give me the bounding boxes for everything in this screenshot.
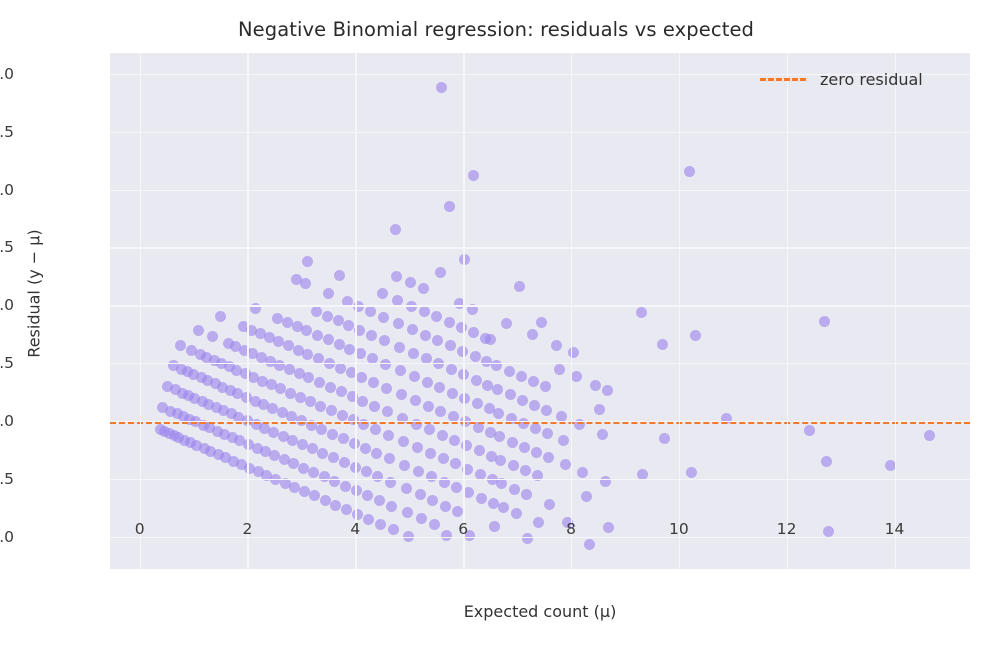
scatter-point	[558, 435, 569, 446]
scatter-point	[463, 487, 474, 498]
scatter-point	[821, 456, 832, 467]
scatter-point	[476, 493, 487, 504]
scatter-point	[527, 329, 538, 340]
scatter-point	[425, 448, 436, 459]
scatter-point	[326, 405, 337, 416]
scatter-point	[300, 278, 311, 289]
scatter-point	[560, 459, 571, 470]
scatter-point	[501, 318, 512, 329]
scatter-point	[446, 364, 457, 375]
scatter-point	[451, 482, 462, 493]
scatter-point	[450, 458, 461, 469]
gridline-vertical	[787, 53, 788, 569]
scatter-point	[344, 344, 355, 355]
scatter-point	[435, 406, 446, 417]
x-axis-label: Expected count (μ)	[110, 602, 970, 621]
scatter-point	[301, 325, 312, 336]
scatter-point	[444, 317, 455, 328]
scatter-point	[334, 270, 345, 281]
scatter-point	[468, 170, 479, 181]
scatter-point	[436, 82, 447, 93]
scatter-point	[416, 513, 427, 524]
scatter-point	[215, 311, 226, 322]
scatter-point	[370, 424, 381, 435]
scatter-point	[819, 316, 830, 327]
scatter-point	[485, 334, 496, 345]
scatter-point	[429, 519, 440, 530]
scatter-point	[456, 322, 467, 333]
scatter-point	[415, 489, 426, 500]
scatter-point	[690, 330, 701, 341]
scatter-point	[438, 453, 449, 464]
scatter-point	[408, 348, 419, 359]
scatter-point	[427, 495, 438, 506]
legend-label-zero-residual: zero residual	[820, 70, 923, 89]
scatter-point	[684, 166, 695, 177]
scatter-point	[521, 489, 532, 500]
scatter-point	[305, 396, 316, 407]
scatter-point	[390, 224, 401, 235]
scatter-point	[325, 382, 336, 393]
scatter-point	[407, 324, 418, 335]
scatter-point	[410, 395, 421, 406]
scatter-point	[320, 495, 331, 506]
scatter-point	[378, 312, 389, 323]
scatter-point	[336, 386, 347, 397]
scatter-point	[311, 306, 322, 317]
scatter-point	[435, 267, 446, 278]
plot-axes	[110, 53, 970, 569]
gridline-vertical	[679, 53, 680, 569]
scatter-point	[571, 371, 582, 382]
scatter-point	[517, 395, 528, 406]
scatter-point	[823, 526, 834, 537]
scatter-point	[540, 381, 551, 392]
scatter-point	[452, 506, 463, 517]
scatter-point	[426, 471, 437, 482]
scatter-point	[360, 443, 371, 454]
scatter-point	[314, 377, 325, 388]
scatter-point	[340, 481, 351, 492]
x-tick-label: 6	[458, 520, 468, 538]
scatter-point	[308, 467, 319, 478]
y-tick-label: 15.0	[0, 65, 14, 83]
scatter-point	[498, 502, 509, 513]
scatter-point	[395, 365, 406, 376]
scatter-point	[474, 445, 485, 456]
scatter-point	[494, 431, 505, 442]
scatter-point	[536, 317, 547, 328]
scatter-point	[207, 331, 218, 342]
scatter-point	[363, 514, 374, 525]
scatter-point	[602, 385, 613, 396]
scatter-point	[327, 429, 338, 440]
scatter-point	[323, 288, 334, 299]
scatter-point	[368, 377, 379, 388]
x-tick-label: 0	[135, 520, 145, 538]
scatter-point	[542, 428, 553, 439]
scatter-point	[377, 288, 388, 299]
scatter-point	[516, 371, 527, 382]
scatter-point	[597, 429, 608, 440]
scatter-point	[509, 484, 520, 495]
scatter-point	[413, 466, 424, 477]
gridline-horizontal	[110, 190, 970, 191]
gridline-horizontal	[110, 479, 970, 480]
scatter-point	[330, 500, 341, 511]
scatter-point	[317, 448, 328, 459]
scatter-point	[528, 376, 539, 387]
scatter-point	[657, 339, 668, 350]
gridline-horizontal	[110, 363, 970, 364]
scatter-point	[374, 495, 385, 506]
scatter-point	[419, 306, 430, 317]
scatter-point	[382, 406, 393, 417]
scatter-point	[544, 499, 555, 510]
scatter-point	[423, 401, 434, 412]
chart-figure: Negative Binomial regression: residuals …	[0, 0, 992, 656]
gridline-horizontal	[110, 537, 970, 538]
scatter-point	[434, 382, 445, 393]
gridline-vertical	[571, 53, 572, 569]
scatter-point	[422, 377, 433, 388]
scatter-point	[584, 539, 595, 550]
x-tick-label: 4	[350, 520, 360, 538]
x-tick-label: 2	[243, 520, 253, 538]
scatter-point	[444, 201, 455, 212]
scatter-point	[394, 342, 405, 353]
scatter-point	[577, 467, 588, 478]
scatter-point	[468, 327, 479, 338]
scatter-point	[551, 340, 562, 351]
scatter-point	[493, 408, 504, 419]
scatter-point	[349, 438, 360, 449]
scatter-point	[472, 398, 483, 409]
scatter-point	[352, 509, 363, 520]
scatter-point	[804, 425, 815, 436]
scatter-point	[568, 347, 579, 358]
scatter-point	[401, 483, 412, 494]
scatter-point	[366, 330, 377, 341]
scatter-point	[511, 508, 522, 519]
scatter-point	[505, 389, 516, 400]
scatter-point	[337, 410, 348, 421]
y-tick-label: 10.0	[0, 181, 14, 199]
scatter-point	[372, 471, 383, 482]
scatter-point	[495, 455, 506, 466]
scatter-point	[522, 533, 533, 544]
scatter-point	[457, 346, 468, 357]
scatter-point	[603, 522, 614, 533]
scatter-point	[388, 524, 399, 535]
scatter-point	[328, 452, 339, 463]
scatter-point	[432, 335, 443, 346]
legend-dash-swatch	[760, 78, 806, 81]
scatter-point	[519, 442, 530, 453]
scatter-point	[431, 311, 442, 322]
scatter-point	[514, 281, 525, 292]
scatter-point	[193, 325, 204, 336]
scatter-point	[362, 490, 373, 501]
scatter-point	[449, 435, 460, 446]
scatter-point	[594, 404, 605, 415]
scatter-point	[391, 271, 402, 282]
gridline-horizontal	[110, 247, 970, 248]
scatter-point	[369, 401, 380, 412]
scatter-point	[508, 460, 519, 471]
scatter-point	[319, 471, 330, 482]
scatter-point	[339, 457, 350, 468]
scatter-point	[405, 277, 416, 288]
scatter-point	[440, 501, 451, 512]
scatter-point	[543, 452, 554, 463]
scatter-point	[323, 334, 334, 345]
scatter-point	[491, 360, 502, 371]
scatter-point	[396, 389, 407, 400]
scatter-point	[530, 423, 541, 434]
scatter-point	[386, 501, 397, 512]
scatter-point	[399, 460, 410, 471]
scatter-point	[356, 372, 367, 383]
scatter-point	[686, 467, 697, 478]
scatter-point	[504, 366, 515, 377]
scatter-point	[338, 433, 349, 444]
x-tick-label: 14	[885, 520, 905, 538]
scatter-point	[531, 447, 542, 458]
scatter-point	[437, 430, 448, 441]
gridline-vertical	[463, 53, 464, 569]
scatter-point	[303, 372, 314, 383]
scatter-point	[357, 396, 368, 407]
scatter-point	[341, 504, 352, 515]
gridline-vertical	[140, 53, 141, 569]
scatter-point	[302, 349, 313, 360]
scatter-point	[398, 436, 409, 447]
scatter-point	[554, 364, 565, 375]
scatter-point	[302, 256, 313, 267]
scatter-point	[489, 521, 500, 532]
scatter-point	[533, 517, 544, 528]
x-tick-label: 10	[669, 520, 689, 538]
chart-title: Negative Binomial regression: residuals …	[0, 18, 992, 41]
gridline-horizontal	[110, 421, 970, 422]
scatter-point	[175, 340, 186, 351]
scatter-point	[636, 307, 647, 318]
scatter-point	[375, 519, 386, 530]
scatter-point	[402, 507, 413, 518]
scatter-point	[470, 351, 481, 362]
y-tick-label: 12.5	[0, 123, 14, 141]
scatter-point	[507, 437, 518, 448]
scatter-point	[520, 465, 531, 476]
y-tick-label: −5.0	[0, 528, 14, 546]
gridline-horizontal	[110, 305, 970, 306]
scatter-point	[471, 375, 482, 386]
scatter-point	[392, 295, 403, 306]
y-tick-label: 2.5	[0, 354, 14, 372]
scatter-point	[541, 405, 552, 416]
scatter-point	[355, 348, 366, 359]
gridline-horizontal	[110, 132, 970, 133]
scatter-point	[316, 424, 327, 435]
scatter-point	[924, 430, 935, 441]
scatter-point	[361, 466, 372, 477]
scatter-point	[445, 340, 456, 351]
scatter-point	[334, 339, 345, 350]
scatter-point	[393, 318, 404, 329]
scatter-point	[379, 335, 390, 346]
scatter-point	[371, 448, 382, 459]
scatter-point	[492, 384, 503, 395]
scatter-point	[315, 401, 326, 412]
scatter-point	[322, 311, 333, 322]
y-tick-label: 7.5	[0, 238, 14, 256]
x-tick-label: 8	[566, 520, 576, 538]
scatter-point	[381, 383, 392, 394]
scatter-point	[420, 330, 431, 341]
y-tick-label: 0.0	[0, 412, 14, 430]
scatter-point	[312, 330, 323, 341]
scatter-point	[424, 424, 435, 435]
scatter-point	[581, 491, 592, 502]
scatter-point	[447, 388, 458, 399]
scatter-point	[307, 443, 318, 454]
scatter-point	[309, 490, 320, 501]
scatter-point	[529, 400, 540, 411]
scatter-point	[412, 442, 423, 453]
scatter-point	[384, 453, 395, 464]
scatter-point	[659, 433, 670, 444]
scatter-point	[409, 371, 420, 382]
scatter-point	[590, 380, 601, 391]
scatter-layer	[110, 53, 970, 569]
scatter-point	[329, 476, 340, 487]
chart-legend: zero residual	[760, 70, 923, 89]
gridline-vertical	[247, 53, 248, 569]
scatter-point	[365, 306, 376, 317]
y-axis-label: Residual (y − μ)	[25, 144, 44, 444]
scatter-point	[343, 320, 354, 331]
y-tick-label: −2.5	[0, 470, 14, 488]
scatter-point	[418, 283, 429, 294]
y-tick-label: 5.0	[0, 296, 14, 314]
gridline-vertical	[355, 53, 356, 569]
scatter-point	[383, 430, 394, 441]
scatter-point	[333, 315, 344, 326]
x-tick-label: 12	[777, 520, 797, 538]
gridline-vertical	[895, 53, 896, 569]
